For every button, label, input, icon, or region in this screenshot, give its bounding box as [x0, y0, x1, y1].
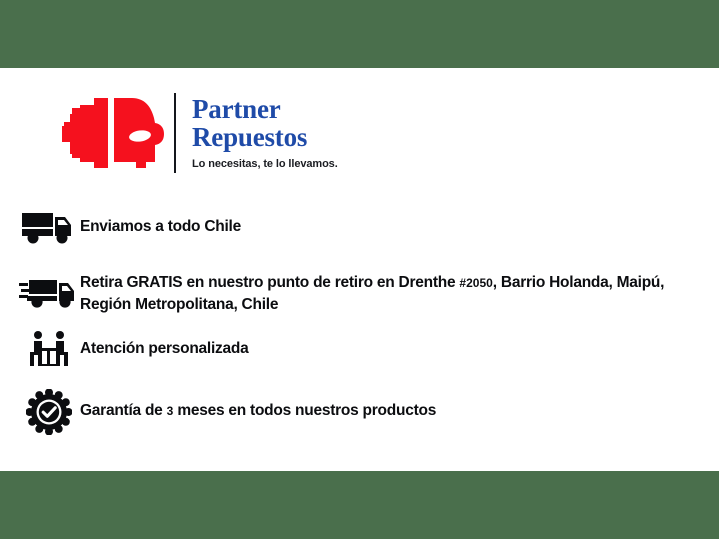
delivery-truck-icon: [18, 206, 80, 250]
feature-row-attention: Atención personalizada: [0, 328, 719, 374]
banner-content: Partner Repuestos Lo necesitas, te lo ll…: [0, 68, 719, 471]
brand-logo-lockup: Partner Repuestos Lo necesitas, te lo ll…: [58, 92, 338, 174]
moving-truck-icon: [18, 270, 80, 314]
brand-wordmark: Partner Repuestos Lo necesitas, te lo ll…: [192, 96, 338, 169]
brand-name-line-1: Partner: [192, 96, 338, 124]
warranty-text-after: meses en todos nuestros productos: [173, 402, 436, 419]
feature-text-shipping: Enviamos a todo Chile: [80, 206, 253, 238]
bottom-green-band: [0, 471, 719, 539]
gear-car-logo-icon: [58, 92, 166, 174]
feature-text-warranty: Garantía de 3 meses en todos nuestros pr…: [80, 390, 448, 422]
feature-list: Enviamos a todo Chile: [0, 206, 719, 436]
feature-text-attention: Atención personalizada: [80, 328, 260, 360]
top-green-band: [0, 0, 719, 68]
logo-divider: [174, 93, 176, 173]
pickup-address-number: #2050: [459, 276, 492, 290]
promo-banner: Partner Repuestos Lo necesitas, te lo ll…: [0, 0, 719, 539]
brand-name-line-2: Repuestos: [192, 124, 338, 152]
guarantee-seal-check-icon: [18, 390, 80, 434]
feature-text-pickup: Retira GRATIS en nuestro punto de retiro…: [80, 270, 719, 316]
feature-row-pickup: Retira GRATIS en nuestro punto de retiro…: [0, 270, 719, 316]
feature-row-shipping: Enviamos a todo Chile: [0, 206, 719, 252]
pickup-text-before: Retira GRATIS en nuestro punto de retiro…: [80, 274, 459, 291]
brand-tagline: Lo necesitas, te lo llevamos.: [192, 158, 338, 170]
warranty-text-before: Garantía de: [80, 402, 167, 419]
feature-row-warranty: Garantía de 3 meses en todos nuestros pr…: [0, 390, 719, 436]
people-at-table-icon: [18, 328, 80, 372]
